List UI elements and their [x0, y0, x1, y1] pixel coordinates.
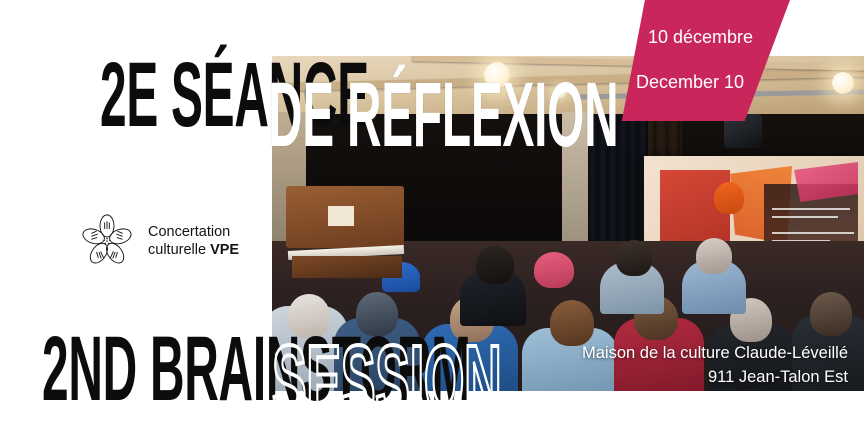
audience-head: [810, 292, 852, 336]
logo-text: Concertation culturelle VPE: [148, 223, 239, 259]
poster: 10 décembre December 10 2E SÉANCE DE RÉF…: [0, 0, 864, 432]
slide-text-line: [772, 208, 850, 210]
logo-line2-bold: VPE: [210, 242, 239, 258]
date-french: 10 décembre: [648, 27, 753, 48]
venue-address: 911 Jean-Talon Est: [582, 366, 848, 390]
piano-group: [286, 186, 406, 278]
date-english: December 10: [636, 72, 744, 93]
organization-logo: Concertation culturelle VPE: [78, 212, 239, 270]
title-english-line2: SESSION: [272, 340, 501, 422]
audience-head-pink: [534, 252, 574, 288]
logo-line2-prefix: culturelle: [148, 242, 210, 258]
audience-head: [550, 300, 594, 346]
ceiling-light: [832, 72, 854, 94]
slide-text-line: [772, 216, 838, 218]
venue-info: Maison de la culture Claude-Léveillé 911…: [582, 342, 848, 390]
audience-head-orange: [714, 182, 744, 214]
flower-logo-icon: [78, 212, 136, 270]
logo-line2: culturelle VPE: [148, 241, 239, 259]
venue-name: Maison de la culture Claude-Léveillé: [582, 342, 848, 366]
audience-head: [616, 240, 652, 276]
logo-line1: Concertation: [148, 223, 239, 241]
audience-head: [476, 246, 514, 284]
slide-text-line: [772, 232, 854, 234]
piano-base: [292, 256, 402, 278]
piano-music-sheet: [328, 206, 354, 226]
title-french-line2: DE RÉFLEXION: [268, 78, 618, 153]
audience-head: [696, 238, 732, 274]
